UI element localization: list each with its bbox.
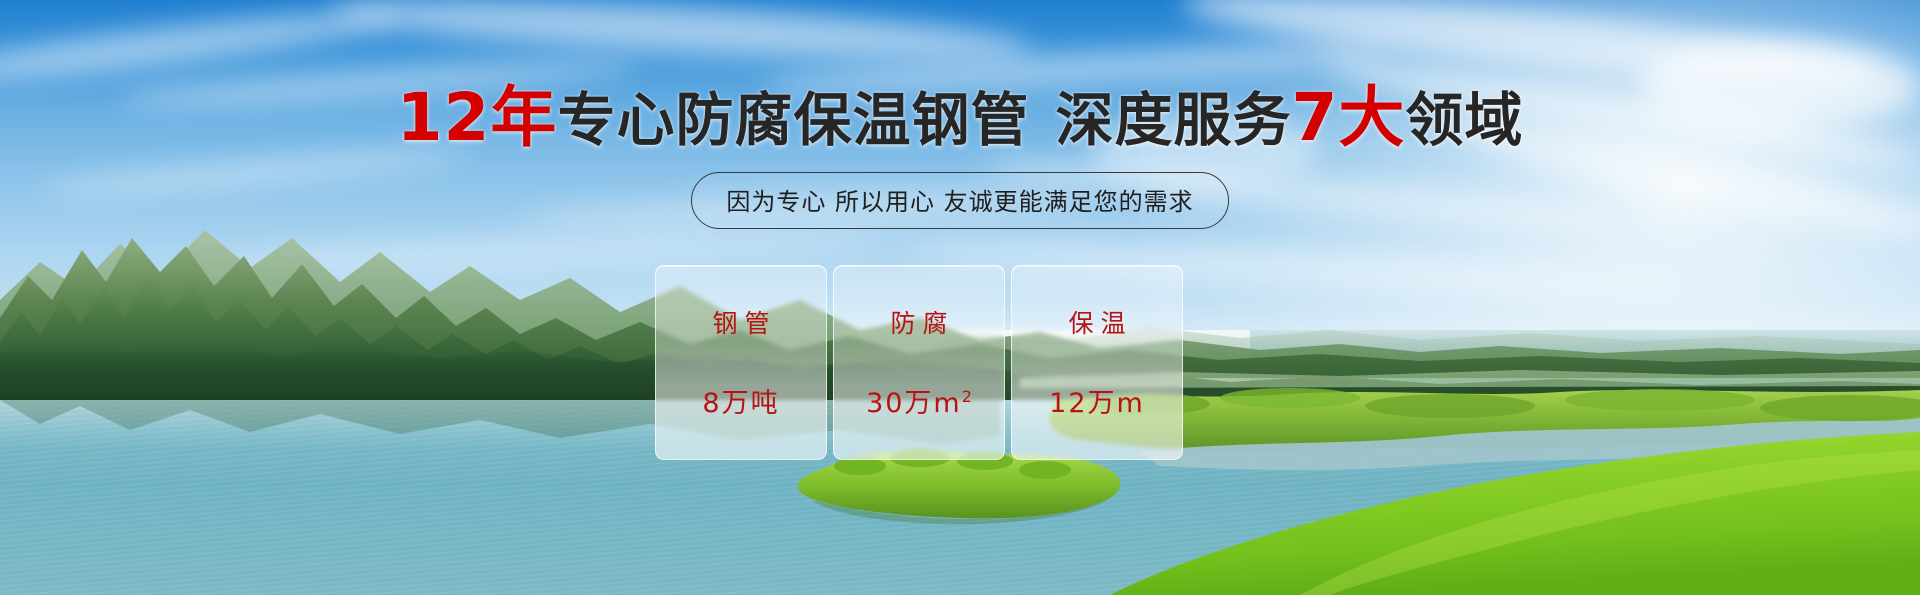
stat-card-insulation[interactable]: 保温 12万m bbox=[1011, 265, 1183, 460]
stat-card-value: 12万m bbox=[1049, 381, 1145, 420]
stat-card-value: 8万吨 bbox=[702, 381, 779, 420]
stat-card-anticorrosion[interactable]: 防腐 30万m2 bbox=[833, 265, 1005, 460]
subtitle-container: 因为专心 所以用心 友诚更能满足您的需求 bbox=[0, 172, 1920, 229]
headline-fields: 领域 bbox=[1405, 86, 1523, 154]
stats-card-group: 钢管 8万吨 防腐 30万m2 保温 12万m bbox=[655, 265, 1183, 460]
headline-years: 12年 bbox=[397, 79, 558, 156]
stat-value-text: 8万吨 bbox=[702, 388, 779, 419]
stat-card-title: 防腐 bbox=[883, 304, 954, 340]
stat-card-title: 钢管 bbox=[705, 304, 776, 340]
stat-value-text: 30万m bbox=[866, 388, 962, 419]
page-title: 12年专心防腐保温钢管深度服务7大领域 bbox=[0, 86, 1920, 152]
headline-main: 专心防腐保温钢管 bbox=[557, 86, 1029, 154]
stat-card-steel-pipe[interactable]: 钢管 8万吨 bbox=[655, 265, 827, 460]
stat-value-text: 12万m bbox=[1049, 388, 1145, 419]
headline-service: 深度服务 bbox=[1055, 86, 1291, 154]
stat-value-superscript: 2 bbox=[962, 387, 972, 406]
hero-banner: 12年专心防腐保温钢管深度服务7大领域 因为专心 所以用心 友诚更能满足您的需求… bbox=[0, 0, 1920, 595]
headline-count: 7大 bbox=[1291, 79, 1405, 156]
stat-card-title: 保温 bbox=[1061, 304, 1132, 340]
subtitle-pill: 因为专心 所以用心 友诚更能满足您的需求 bbox=[691, 172, 1228, 229]
stat-card-value: 30万m2 bbox=[866, 381, 972, 420]
